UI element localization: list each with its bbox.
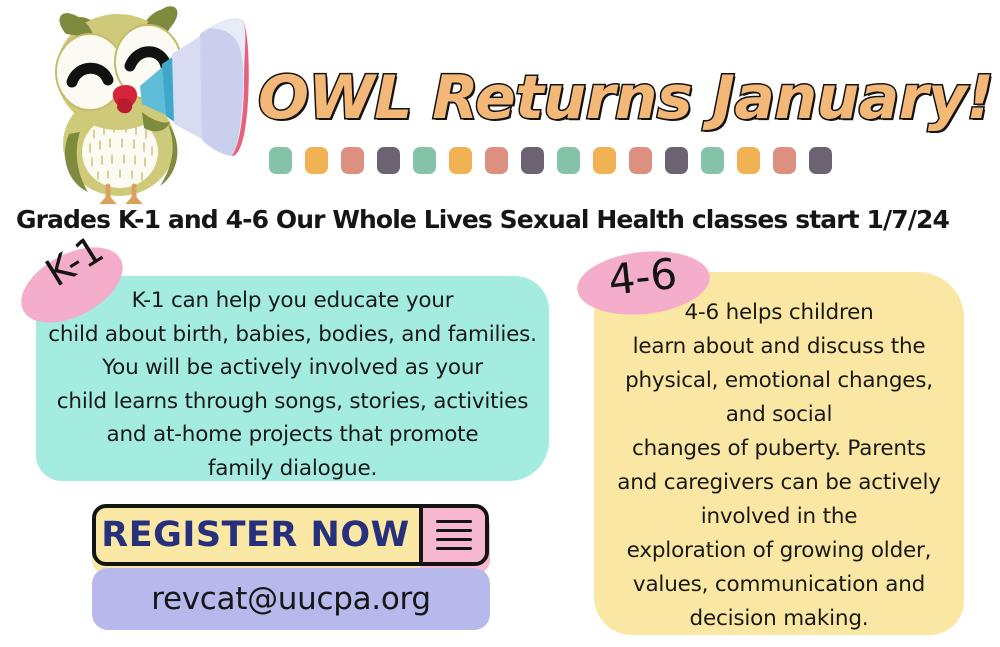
poster-canvas: OWL Returns January! Grades K-1 and 4-6 … [0,0,1000,647]
owl-with-megaphone-icon [14,4,264,204]
color-swatch [701,147,724,174]
color-swatch [341,147,364,174]
card-k1-body: K-1 can help you educate your child abou… [36,276,549,485]
color-swatch [521,147,544,174]
hamburger-line [436,529,472,532]
color-swatch [305,147,328,174]
register-now-label: REGISTER NOW [96,508,419,562]
color-swatch [809,147,832,174]
color-swatch [485,147,508,174]
hamburger-line [436,547,472,550]
hamburger-line [436,520,472,523]
contact-email-bar[interactable]: revcat@uucpa.org [92,568,490,630]
owl-mascot [14,4,264,204]
card-k1: K-1 can help you educate your child abou… [36,276,549,481]
contact-email-text: revcat@uucpa.org [151,581,431,617]
hamburger-line [436,538,472,541]
subtitle-line: Grades K-1 and 4-6 Our Whole Lives Sexua… [16,204,991,236]
color-swatch [413,147,436,174]
color-swatch [449,147,472,174]
card-grades-4-6: 4-6 helps children learn about and discu… [594,272,964,635]
color-swatch [557,147,580,174]
color-swatch [773,147,796,174]
badge-4-6-label: 4-6 [606,249,679,305]
card-grades-4-6-body: 4-6 helps children learn about and discu… [594,272,964,636]
color-swatch [269,147,292,174]
color-swatch [665,147,688,174]
page-title: OWL Returns January! [258,62,898,134]
register-now-button[interactable]: REGISTER NOW [92,504,489,566]
color-swatch [737,147,760,174]
color-swatch [593,147,616,174]
color-swatch [377,147,400,174]
color-swatch-row [269,147,832,174]
hamburger-list-icon[interactable] [419,508,485,562]
color-swatch [629,147,652,174]
